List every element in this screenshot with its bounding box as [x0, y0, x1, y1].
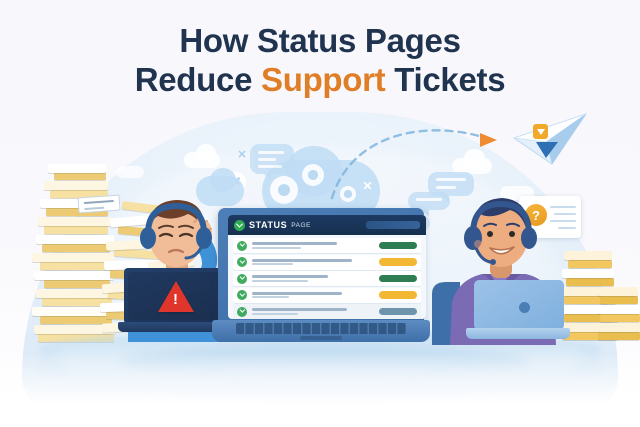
center-laptop-keyboard: [236, 323, 406, 334]
status-page-header: STATUS PAGE: [228, 215, 426, 235]
gear-icon: [340, 186, 356, 202]
ticket-paper: [598, 305, 640, 314]
center-laptop-trackpad: [300, 336, 342, 340]
ticket-paper: [54, 172, 106, 180]
check-circle-icon: [237, 241, 247, 251]
status-badge: [379, 242, 417, 250]
illustration-banner: ✕ ✕ ✕: [0, 0, 640, 427]
check-circle-icon: [237, 257, 247, 267]
ticket-paper: [44, 181, 108, 190]
status-page-header-pill[interactable]: [366, 221, 420, 229]
ticket-paper: [564, 251, 612, 260]
ticket-paper: [34, 271, 114, 280]
ticket-stack-group-right-2: [598, 262, 640, 347]
status-row-text: [252, 259, 374, 265]
close-icon: ✕: [360, 178, 375, 193]
status-row-text: [252, 275, 374, 281]
check-circle-icon: [237, 307, 247, 317]
status-row-text: [252, 242, 374, 248]
page-title: How Status Pages Reduce Support Tickets: [0, 22, 640, 100]
ticket-paper: [598, 332, 640, 340]
center-laptop-lid: STATUS PAGE: [218, 208, 424, 326]
status-row[interactable]: [233, 238, 421, 253]
close-icon: ✕: [236, 148, 248, 160]
title-accent-word: Support: [261, 61, 385, 98]
gear-icon: [270, 176, 298, 204]
chat-bubble-icon: [250, 144, 294, 174]
status-row[interactable]: [233, 255, 421, 270]
right-laptop-logo: [519, 302, 530, 313]
ticket-paper: [42, 244, 110, 252]
status-row[interactable]: [233, 304, 421, 319]
cloud-icon: [210, 168, 236, 192]
status-page-screen: STATUS PAGE: [228, 215, 426, 319]
right-laptop-lid: [474, 280, 564, 330]
plane-badge-icon: [533, 124, 548, 139]
ticket-paper: [38, 217, 112, 226]
ticket-paper: [44, 280, 110, 288]
ticket-paper: [600, 314, 640, 322]
status-row-text: [252, 308, 374, 314]
check-circle-icon: [237, 274, 247, 284]
left-laptop-screen: [128, 272, 224, 320]
status-badge: [379, 275, 417, 283]
ticket-paper: [36, 235, 114, 244]
check-circle-icon: [237, 290, 247, 300]
ticket-paper: [40, 316, 112, 324]
ticket-paper: [40, 262, 112, 270]
cloud-icon: [464, 149, 485, 167]
right-laptop-base: [466, 328, 570, 339]
cloud-icon: [196, 144, 216, 162]
status-badge: [379, 308, 417, 316]
ticket-paper: [600, 296, 638, 304]
warning-triangle-icon: [158, 281, 194, 312]
bottom-fade: [0, 352, 640, 427]
ticket-paper: [32, 253, 114, 262]
status-row-text: [252, 292, 374, 298]
ticket-paper: [598, 323, 640, 332]
paper-plane-icon: [512, 112, 590, 168]
check-circle-icon: [234, 220, 245, 231]
title-line-1: How Status Pages: [0, 22, 640, 61]
gear-icon: [302, 164, 324, 186]
title-line-2-part-1: Reduce: [135, 61, 261, 98]
title-line-2-part-2: Tickets: [385, 61, 505, 98]
status-badge: [379, 291, 417, 299]
arrow-right-icon: [480, 133, 497, 147]
ticket-paper: [48, 164, 106, 173]
status-page-brand-main: STATUS: [249, 220, 287, 230]
status-row[interactable]: [233, 271, 421, 286]
right-laptop: [466, 280, 570, 342]
status-row[interactable]: [233, 288, 421, 303]
title-line-2: Reduce Support Tickets: [0, 61, 640, 100]
center-laptop: STATUS PAGE: [212, 208, 430, 350]
status-page-brand-sub: PAGE: [291, 222, 311, 229]
ticket-paper: [598, 287, 638, 296]
ticket-paper: [44, 226, 108, 234]
status-page-rows: [228, 235, 426, 319]
status-badge: [379, 258, 417, 266]
